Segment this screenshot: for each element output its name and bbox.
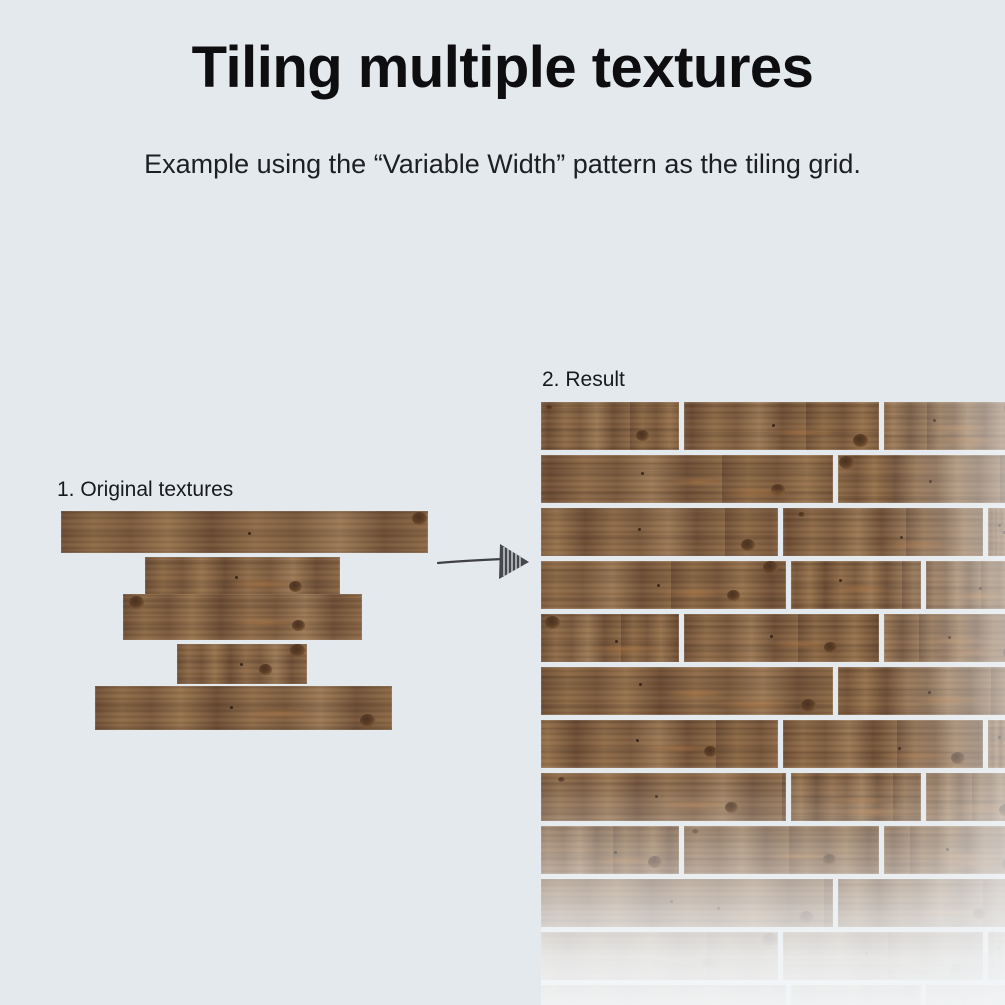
wood-grain-streak xyxy=(932,647,1005,658)
texture-plank-5 xyxy=(95,686,392,730)
wood-blemish xyxy=(636,739,639,742)
wood-knot xyxy=(799,911,814,924)
wood-grain-streak xyxy=(643,956,709,965)
result-plank xyxy=(541,614,679,662)
result-row xyxy=(541,614,1005,662)
result-plank xyxy=(838,455,1005,503)
wood-grain-streak xyxy=(712,911,793,922)
wood-knot xyxy=(360,714,375,727)
result-plank xyxy=(541,508,778,556)
wood-knot xyxy=(292,620,305,631)
result-row xyxy=(541,455,1005,503)
wood-blemish xyxy=(639,683,642,686)
wood-grain-streak xyxy=(912,695,986,705)
wood-knot xyxy=(648,856,662,868)
page-subtitle: Example using the “Variable Width” patte… xyxy=(0,148,1005,182)
texture-plank-1 xyxy=(61,511,428,553)
wood-grain-streak xyxy=(665,689,727,698)
wood-blemish xyxy=(614,851,617,854)
wood-blemish xyxy=(979,587,982,590)
wood-knot xyxy=(999,804,1005,816)
wood-blemish xyxy=(240,663,243,666)
wood-blemish xyxy=(638,528,641,531)
wood-knot xyxy=(558,777,565,782)
wood-blemish xyxy=(929,480,932,483)
wood-knot xyxy=(412,512,427,525)
wood-grain-streak xyxy=(644,744,711,753)
result-row xyxy=(541,985,1005,1005)
wood-grain-streak xyxy=(714,487,796,498)
wood-grain-streak xyxy=(941,803,1005,813)
wood-knot xyxy=(798,512,805,517)
wood-blemish xyxy=(641,472,644,475)
result-plank xyxy=(926,773,1005,821)
wood-knot xyxy=(741,539,755,551)
wood-blemish xyxy=(772,424,775,427)
wood-grain-streak xyxy=(829,796,893,805)
result-plank xyxy=(988,932,1005,980)
wood-knot xyxy=(763,561,778,574)
texture-plank-4 xyxy=(177,644,307,684)
wood-knot xyxy=(557,989,564,994)
result-plank xyxy=(684,614,879,662)
result-plank xyxy=(684,826,879,874)
wood-grain-streak xyxy=(988,963,1005,974)
wood-grain-streak xyxy=(931,435,1005,446)
wood-grain-streak xyxy=(927,424,990,433)
arrow-right-icon xyxy=(437,541,533,583)
result-row xyxy=(541,932,1005,980)
wood-knot xyxy=(824,642,837,653)
wood-grain-streak xyxy=(829,584,894,593)
result-row xyxy=(541,773,1005,821)
wood-blemish xyxy=(948,636,951,639)
wood-knot xyxy=(545,616,560,629)
wood-knot xyxy=(951,752,965,764)
result-plank xyxy=(541,773,786,821)
result-plank xyxy=(791,773,921,821)
wood-knot xyxy=(636,430,649,441)
page-root: Tiling multiple textures Example using t… xyxy=(0,0,1005,1005)
result-plank xyxy=(791,561,921,609)
wood-knot xyxy=(129,596,144,609)
page-title: Tiling multiple textures xyxy=(0,38,1005,99)
wood-blemish xyxy=(946,848,949,851)
result-plank xyxy=(541,932,778,980)
wood-knot xyxy=(727,590,740,601)
wood-blemish xyxy=(655,795,658,798)
texture-plank-3 xyxy=(123,594,362,640)
wood-grain-streak xyxy=(878,751,957,761)
result-plank xyxy=(541,455,833,503)
wood-knot xyxy=(692,829,699,834)
wood-knot xyxy=(801,699,816,712)
result-plank xyxy=(884,614,1005,662)
result-plank xyxy=(926,561,1005,609)
result-plank xyxy=(541,402,679,450)
wood-grain-streak xyxy=(230,618,298,627)
result-plank xyxy=(988,508,1005,556)
wood-grain-streak xyxy=(658,800,729,810)
wood-knot xyxy=(702,958,715,969)
wood-knot xyxy=(762,933,777,946)
wood-knot xyxy=(704,746,717,757)
wood-blemish xyxy=(865,952,868,955)
wood-grain-streak xyxy=(988,747,1005,757)
wood-blemish xyxy=(928,691,931,694)
wood-blemish xyxy=(670,900,673,903)
result-plank xyxy=(541,826,679,874)
result-plank xyxy=(783,932,983,980)
result-plank xyxy=(684,402,879,450)
wood-grain-streak xyxy=(659,588,731,598)
wood-blemish xyxy=(717,907,720,910)
result-row xyxy=(541,667,1005,715)
result-plank xyxy=(541,667,833,715)
result-plank xyxy=(541,720,778,768)
result-plank xyxy=(926,985,1005,1005)
wood-grain-streak xyxy=(988,536,1005,546)
wood-knot xyxy=(853,434,868,447)
result-row xyxy=(541,826,1005,874)
wood-knot xyxy=(289,581,302,592)
result-plank xyxy=(541,879,833,927)
wood-knot xyxy=(973,908,987,920)
wood-blemish xyxy=(998,524,1001,527)
result-plank xyxy=(541,985,786,1005)
result-plank xyxy=(988,720,1005,768)
wood-grain-streak xyxy=(878,539,958,550)
result-plank xyxy=(884,402,1005,450)
caption-original-textures: 1. Original textures xyxy=(57,478,233,502)
texture-plank-2 xyxy=(145,557,340,599)
wood-blemish xyxy=(235,576,238,579)
wood-grain-streak xyxy=(713,699,794,710)
wood-knot xyxy=(902,985,917,998)
wood-blemish xyxy=(248,532,251,535)
caption-result: 2. Result xyxy=(542,368,625,392)
result-plank xyxy=(884,826,1005,874)
wood-knot xyxy=(290,644,305,657)
wood-grain-streak xyxy=(930,852,1000,861)
wood-blemish xyxy=(933,419,936,422)
result-plank xyxy=(791,985,921,1005)
wood-grain-streak xyxy=(830,807,914,818)
result-row xyxy=(541,720,1005,768)
result-row xyxy=(541,561,1005,609)
wood-blemish xyxy=(615,640,618,643)
wood-knot xyxy=(950,963,964,975)
wood-knot xyxy=(823,854,836,865)
result-plank xyxy=(783,720,983,768)
result-grid xyxy=(541,402,1005,1005)
wood-knot xyxy=(546,405,553,410)
result-plank xyxy=(783,508,983,556)
wood-blemish xyxy=(898,747,901,750)
wood-grain-streak xyxy=(926,636,989,645)
wood-knot xyxy=(259,664,272,675)
wood-blemish xyxy=(770,635,773,638)
result-row xyxy=(541,402,1005,450)
wood-grain-streak xyxy=(244,709,314,718)
result-plank xyxy=(541,561,786,609)
wood-blemish xyxy=(230,706,233,709)
wood-knot xyxy=(839,456,854,469)
wood-blemish xyxy=(998,947,1001,950)
wood-knot xyxy=(725,802,738,813)
result-row xyxy=(541,508,1005,556)
wood-blemish xyxy=(657,584,660,587)
result-row xyxy=(541,879,1005,927)
wood-grain-streak xyxy=(942,591,1005,601)
wood-grain-streak xyxy=(586,644,663,654)
result-plank xyxy=(838,667,1005,715)
wood-blemish xyxy=(998,736,1001,739)
wood-grain-streak xyxy=(766,428,836,437)
result-plank xyxy=(838,879,1005,927)
wood-grain-streak xyxy=(865,956,932,965)
wood-blemish xyxy=(839,579,842,582)
wood-grain-streak xyxy=(667,477,729,486)
